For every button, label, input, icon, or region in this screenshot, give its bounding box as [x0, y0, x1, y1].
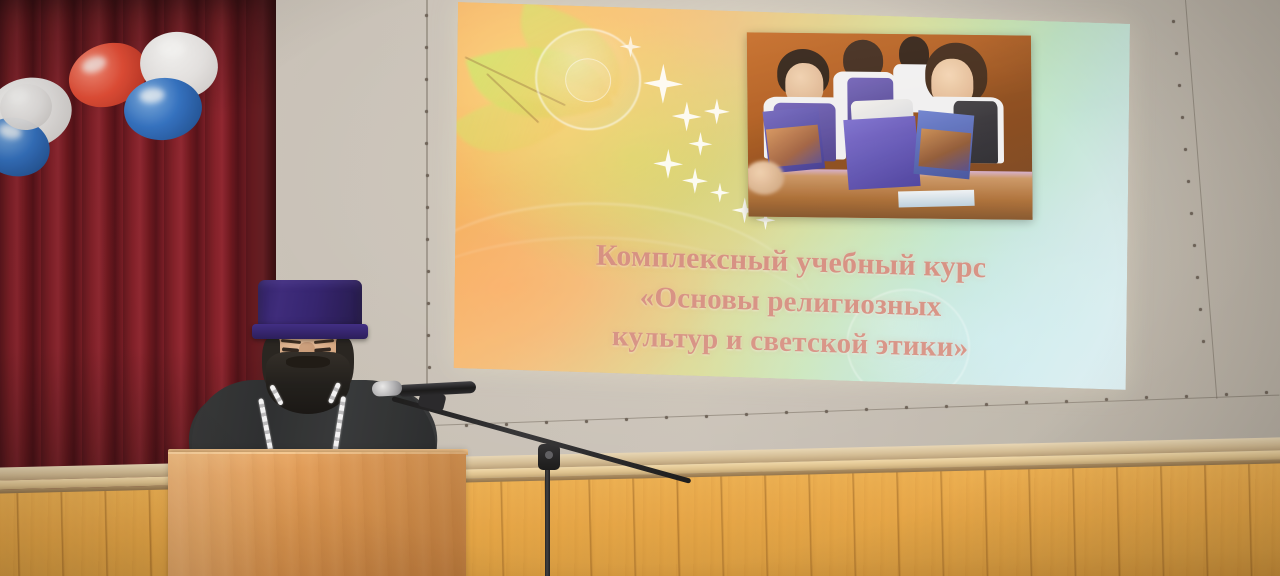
photograph-scene: Комплексный учебный курс «Основы религио…: [0, 0, 1280, 576]
microphone-stand-clutch: [538, 444, 560, 470]
lectern-shading: [168, 452, 466, 576]
skufia-brim: [252, 324, 368, 339]
microphone-head: [372, 380, 403, 397]
priest-moustache: [286, 356, 330, 368]
microphone-stand-pole: [545, 452, 550, 576]
wooden-lectern: [168, 452, 466, 576]
orthodox-priest: [186, 280, 436, 460]
